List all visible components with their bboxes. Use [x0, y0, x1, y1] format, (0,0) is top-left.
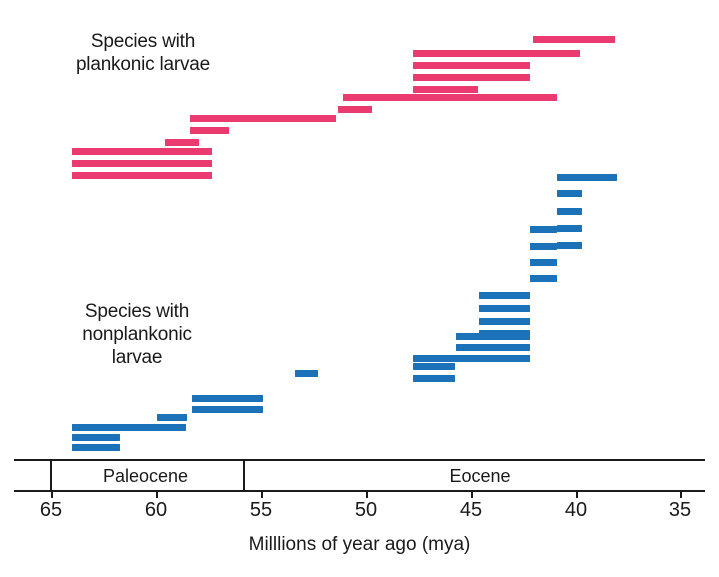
axis-tick-50 — [366, 490, 368, 498]
planktonic-bar-2 — [413, 50, 580, 57]
nonplanktonic-bar-9 — [530, 275, 557, 282]
nonplanktonic-bar-23 — [72, 424, 186, 431]
planktonic-bar-10 — [165, 139, 199, 146]
nonplanktonic-bar-2 — [557, 190, 582, 197]
axis-tick-65 — [51, 490, 53, 498]
plot-area: Species with plankonic larvae Species wi… — [0, 0, 719, 455]
nonplanktonic-bar-21 — [192, 406, 263, 413]
axis-tick-label-35: 35 — [669, 499, 691, 522]
axis-tick-label-50: 50 — [355, 499, 377, 522]
nonplanktonic-bar-4 — [557, 225, 582, 232]
nonplanktonic-bar-14 — [456, 333, 530, 340]
nonplanktonic-bar-15 — [456, 344, 530, 351]
planktonic-bar-7 — [338, 106, 372, 113]
axis-tick-label-40: 40 — [565, 499, 587, 522]
nonplanktonic-bar-7 — [530, 243, 557, 250]
nonplanktonic-bar-3 — [557, 208, 582, 215]
nonplanktonic-bar-12 — [479, 318, 530, 325]
nonplanktonic-bar-18 — [413, 375, 455, 382]
planktonic-bar-11 — [72, 148, 212, 155]
epoch-bar: PaleoceneEocene — [14, 459, 705, 492]
planktonic-group-label: Species with plankonic larvae — [48, 30, 238, 76]
nonplanktonic-bar-24 — [72, 434, 120, 441]
axis-title: Milllions of year ago (mya) — [0, 534, 719, 556]
nonplanktonic-bar-25 — [72, 444, 120, 451]
axis-tick-label-45: 45 — [460, 499, 482, 522]
planktonic-bar-9 — [190, 127, 229, 134]
nonplanktonic-bar-11 — [479, 305, 530, 312]
nonplanktonic-bar-5 — [557, 242, 582, 249]
epoch-cell-paleocene: Paleocene — [50, 461, 241, 490]
axis-tick-label-65: 65 — [40, 499, 62, 522]
planktonic-bar-8 — [190, 115, 336, 122]
nonplanktonic-group-label: Species with nonplankonic larvae — [42, 300, 232, 369]
planktonic-bar-13 — [72, 172, 212, 179]
nonplanktonic-bar-10 — [479, 292, 530, 299]
planktonic-bar-4 — [413, 74, 530, 81]
planktonic-bar-3 — [413, 62, 530, 69]
nonplanktonic-bar-22 — [157, 414, 187, 421]
planktonic-bar-1 — [533, 36, 615, 43]
nonplanktonic-bar-1 — [557, 174, 617, 181]
epoch-divider — [50, 461, 52, 490]
nonplanktonic-bar-6 — [530, 226, 557, 233]
axis-tick-40 — [576, 490, 578, 498]
nonplanktonic-bar-16 — [413, 355, 530, 362]
nonplanktonic-bar-17 — [413, 363, 455, 370]
nonplanktonic-bar-8 — [530, 259, 557, 266]
axis-tick-35 — [680, 490, 682, 498]
nonplanktonic-bar-20 — [192, 395, 263, 402]
planktonic-bar-5 — [413, 86, 478, 93]
axis-tick-60 — [156, 490, 158, 498]
axis-tick-label-60: 60 — [145, 499, 167, 522]
epoch-divider — [243, 461, 245, 490]
axis-tick-label-55: 55 — [250, 499, 272, 522]
epoch-cell-eocene: Eocene — [243, 461, 717, 490]
nonplanktonic-bar-19 — [295, 370, 318, 377]
range-chart: Species with plankonic larvae Species wi… — [0, 0, 719, 577]
planktonic-bar-6 — [343, 94, 557, 101]
planktonic-bar-12 — [72, 160, 212, 167]
axis-tick-45 — [471, 490, 473, 498]
axis-tick-55 — [261, 490, 263, 498]
